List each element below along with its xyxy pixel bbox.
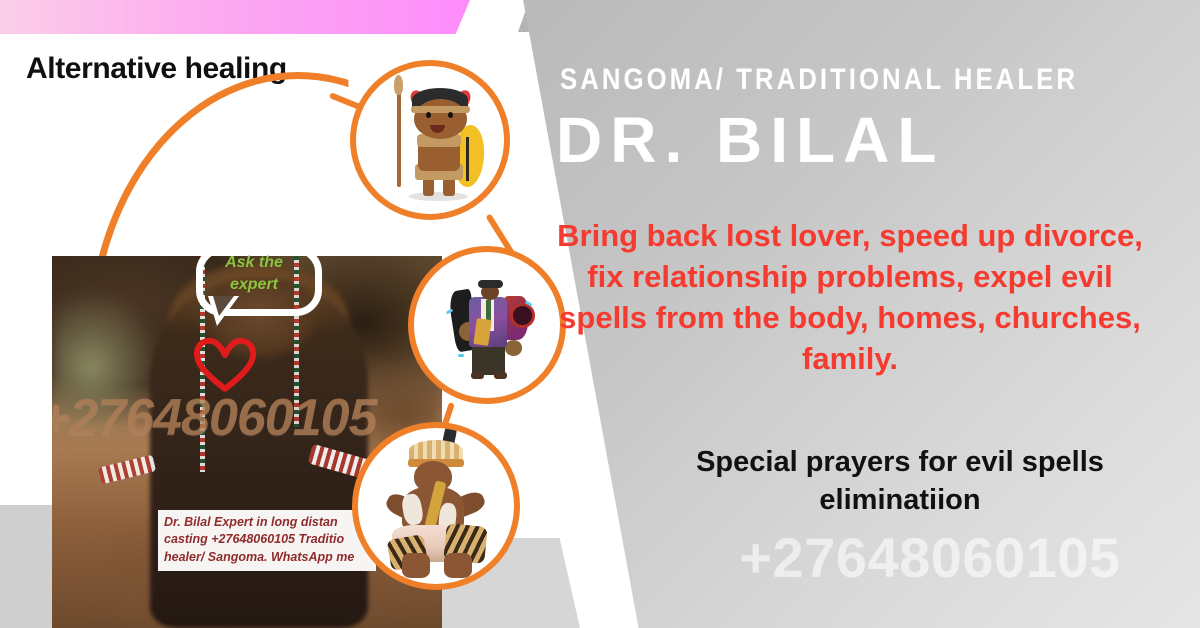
diviner-shoe-right [494, 372, 507, 379]
prayers-text: Special prayers for evil spells eliminat… [620, 444, 1180, 519]
poster-canvas: Alternative healing +27648060105 Ask the… [0, 0, 1200, 628]
phone-watermark: +27648060105 [660, 525, 1200, 590]
warrior-eye-left [426, 112, 431, 118]
kicker-text: SANGOMA/ TRADITIONAL HEALER [560, 63, 1093, 97]
warrior-shadow [409, 192, 468, 201]
warrior-eye-right [448, 112, 453, 118]
speech-bubble-line-1: Ask the [204, 252, 304, 274]
healer-name: DR. BILAL [556, 103, 1176, 177]
dancer-leg-left [402, 553, 430, 578]
speech-bubble-line-2: expert [204, 274, 304, 296]
caption-line-1: Dr. Bilal Expert in long distan [164, 514, 370, 531]
photo-phone-watermark: +27648060105 [52, 388, 377, 448]
warrior-spear [397, 81, 401, 188]
zulu-warrior-illustration [356, 66, 504, 214]
warrior-shield-stripe [466, 137, 469, 181]
diviner-drum-right [505, 340, 523, 356]
warrior-head [414, 99, 467, 139]
warrior-headband [411, 106, 470, 113]
diviner-hat [478, 280, 503, 289]
speech-bubble-tail-inner [213, 296, 234, 316]
speech-bubble-label: Ask the expert [204, 252, 304, 295]
sangoma-diviner-illustration [414, 252, 560, 398]
top-band-pink [0, 0, 470, 34]
warrior-leg-right [443, 178, 455, 196]
circle-image-traditional-dancer [352, 422, 520, 590]
circle-image-zulu-warrior [350, 60, 510, 220]
diviner-trousers [472, 343, 504, 375]
diviner-shield-disc [510, 303, 535, 328]
services-text: Bring back lost lover, speed up divorce,… [540, 216, 1160, 380]
warrior-spear-head [394, 75, 403, 95]
dancer-leg-right [444, 553, 472, 578]
warrior-leg-left [423, 178, 435, 196]
photo-caption: Dr. Bilal Expert in long distan casting … [158, 510, 376, 571]
traditional-dancer-illustration [358, 428, 514, 584]
caption-line-2: casting +27648060105 Traditio [164, 531, 370, 548]
bottom-left-gray-accent [0, 505, 60, 628]
caption-line-3: healer/ Sangoma. WhatsApp me [164, 549, 370, 566]
diviner-shoe-left [471, 372, 484, 379]
heart-icon [192, 333, 258, 393]
diviner-sparkle-c [458, 354, 464, 357]
